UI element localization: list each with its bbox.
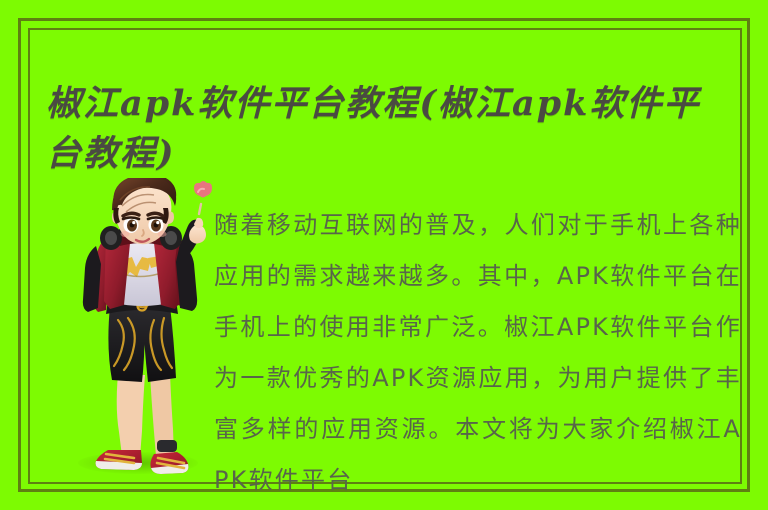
article-paragraph: 随着移动互联网的普及，人们对于手机上各种应用的需求越来越多。其中，APK软件平台…: [214, 200, 742, 506]
article-banner: 椒江apk软件平台教程(椒江apk软件平台教程): [0, 0, 768, 510]
cartoon-boy-illustration: [62, 178, 222, 478]
page-title: 椒江apk软件平台教程(椒江apk软件平台教程): [46, 79, 736, 179]
shorts: [106, 297, 178, 383]
hand-with-lollipop: [189, 181, 212, 244]
shoes: [96, 440, 189, 474]
